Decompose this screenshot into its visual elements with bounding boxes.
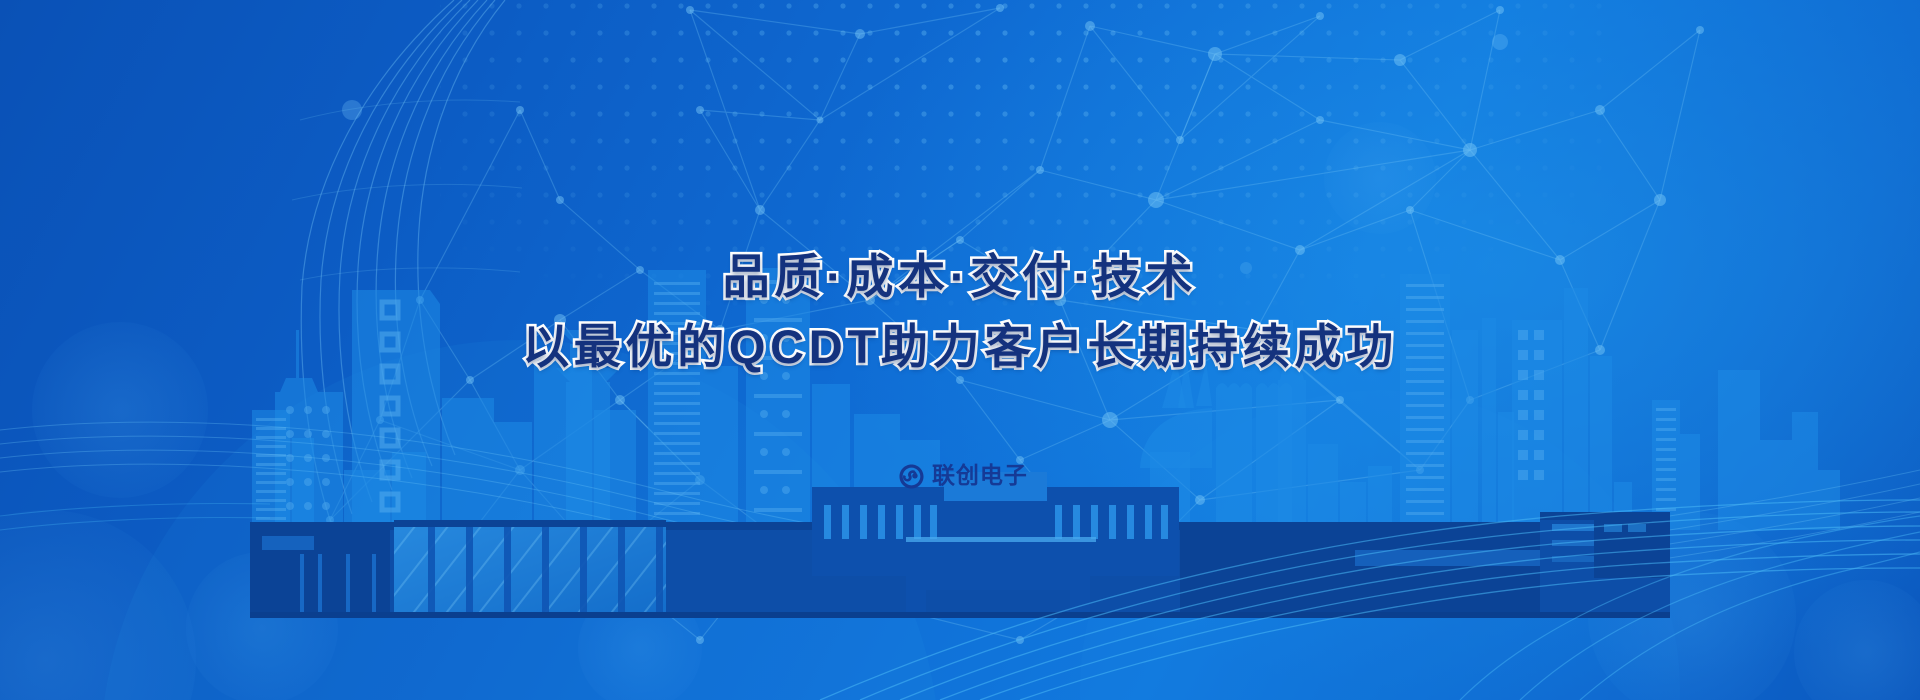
wave-lines-bottom-layer	[0, 0, 1920, 700]
wave-line-group-right	[820, 500, 1920, 700]
wave-line-group-cross	[1460, 516, 1920, 700]
promo-banner: 联创电子 品质·成本·交付·技术 以最优的QCDT助力客户长期持续成功	[0, 0, 1920, 700]
wave-line-group-left	[0, 504, 270, 531]
